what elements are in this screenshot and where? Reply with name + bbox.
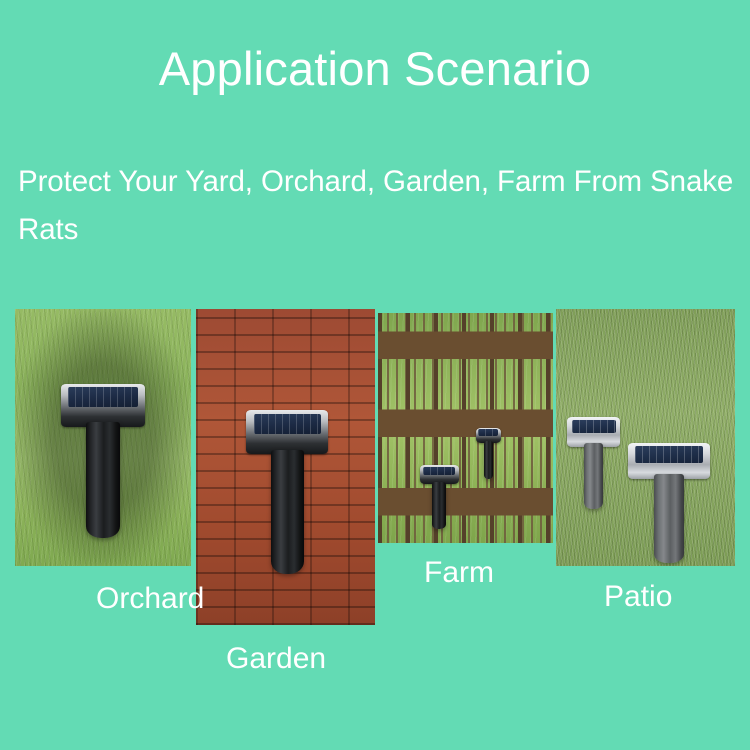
scenario-image-garden <box>196 309 375 625</box>
solar-repeller-device <box>61 384 145 538</box>
caption-orchard: Orchard <box>96 584 204 614</box>
scenario-image-farm <box>378 313 553 543</box>
solar-repeller-device <box>246 410 328 574</box>
repeller-body <box>484 441 493 478</box>
solar-cell <box>478 429 498 436</box>
solar-repeller-device-far <box>476 428 501 479</box>
solar-cell <box>423 467 455 476</box>
solar-cell <box>254 414 322 434</box>
solar-repeller-device-near <box>420 465 459 529</box>
solar-cell <box>572 420 616 434</box>
solar-repeller-device-left <box>567 417 621 510</box>
solar-repeller-device-right <box>628 443 710 564</box>
repeller-body <box>432 482 446 530</box>
repeller-body <box>271 450 304 575</box>
page-subtitle: Protect Your Yard, Orchard, Garden, Farm… <box>18 158 740 254</box>
farm-wooden-fence <box>378 313 553 543</box>
caption-farm: Farm <box>424 558 494 588</box>
application-scenario-page: Application Scenario Protect Your Yard, … <box>0 0 750 750</box>
scenario-image-patio <box>556 309 735 566</box>
repeller-body <box>86 422 120 538</box>
repeller-body <box>654 474 684 563</box>
caption-patio: Patio <box>604 582 672 612</box>
solar-cell <box>635 446 703 463</box>
caption-garden: Garden <box>226 644 326 674</box>
solar-panel-head <box>246 410 328 454</box>
page-title: Application Scenario <box>0 44 750 93</box>
scenario-image-orchard <box>15 309 191 566</box>
solar-panel-head <box>61 384 145 427</box>
repeller-body <box>584 443 602 510</box>
solar-cell <box>68 387 137 407</box>
